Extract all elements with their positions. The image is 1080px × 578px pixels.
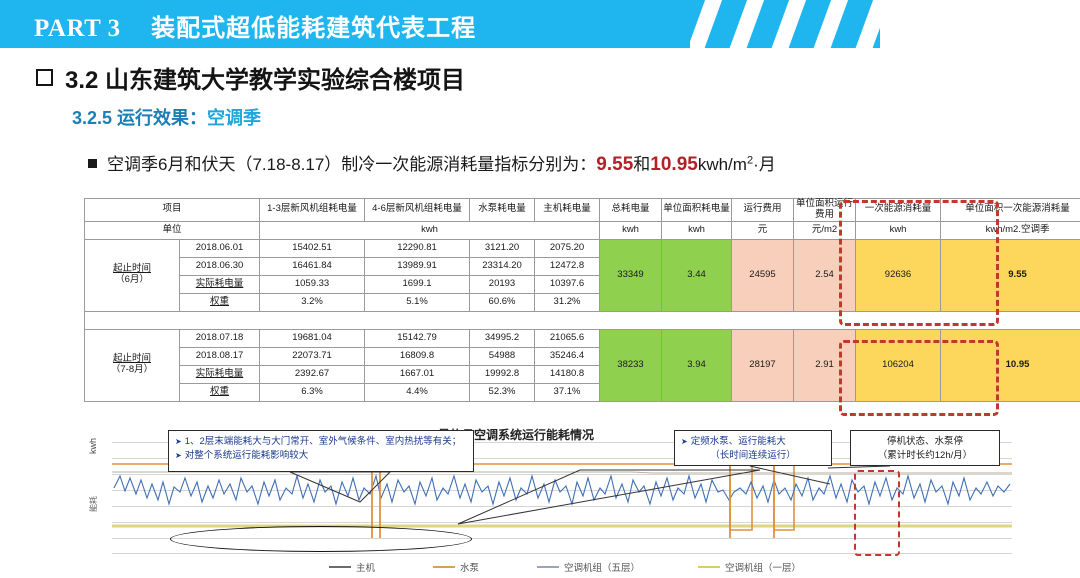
td-block2-label: 起止时间 （7-8月） xyxy=(85,329,180,401)
td-unit-kwh-span: kwh xyxy=(260,221,600,239)
td-b2r3-v4: 14180.8 xyxy=(535,365,600,383)
td-b1r1-v4: 2075.20 xyxy=(535,239,600,257)
block1-label-line2: （6月） xyxy=(115,274,149,285)
legend-swatch-pump xyxy=(433,566,455,569)
td-unit-run-cost: 元 xyxy=(732,221,794,239)
legend-swatch-chiller xyxy=(329,566,351,569)
bullet-text-before: 空调季6月和伏天（7.18-8.17）制冷一次能源消耗量指标分别为： xyxy=(107,155,596,174)
th-fresh-air-4-6: 4-6层新风机组耗电量 xyxy=(365,199,470,222)
callout-1-text-1: 1、2层末端能耗大与大门常开、室外气候条件、室内热扰等有关； xyxy=(185,436,462,447)
td-b1r4-v4: 31.2% xyxy=(535,293,600,311)
td-b2r1-v4: 21065.6 xyxy=(535,329,600,347)
td-b2r3-v1: 2392.67 xyxy=(260,365,365,383)
th-per-area-cost: 单位面积运行费用 xyxy=(794,199,856,222)
td-b2r2-v2: 16809.8 xyxy=(365,347,470,365)
subsection-heading: 3.2.5 运行效果：空调季 xyxy=(72,104,261,130)
block1-label-line1: 起止时间 xyxy=(113,263,151,274)
section-heading: 3.2 山东建筑大学教学实验综合楼项目 xyxy=(36,60,465,95)
td-b2r2-name: 2018.08.17 xyxy=(180,347,260,365)
th-item: 项目 xyxy=(85,199,260,222)
callout-1-line-2: ➤对整个系统运行能耗影响较大 xyxy=(175,449,467,463)
td-b1r1-name: 2018.06.01 xyxy=(180,239,260,257)
metric-unit: kwh/m xyxy=(698,155,747,174)
td-b1r1-v3: 3121.20 xyxy=(470,239,535,257)
callout-2-line-2: （长时间连续运行） xyxy=(681,449,825,463)
banner-diagonal-stripes xyxy=(690,0,890,48)
td-b1r3-v4: 10397.6 xyxy=(535,275,600,293)
table-block-spacer xyxy=(85,311,1080,329)
spacer-cell xyxy=(85,311,1080,329)
td-b1r3-v1: 1059.33 xyxy=(260,275,365,293)
key-metric-bullet: 空调季6月和伏天（7.18-8.17）制冷一次能源消耗量指标分别为：9.55和1… xyxy=(88,150,776,176)
td-block2-run-cost: 28197 xyxy=(732,329,794,401)
td-b2r3-v3: 19992.8 xyxy=(470,365,535,383)
td-b1r1-v2: 12290.81 xyxy=(365,239,470,257)
td-b1r2-v4: 12472.8 xyxy=(535,257,600,275)
subsection-number: 3.2.5 运行效果： xyxy=(72,108,207,128)
legend-item-pump: 水泵 xyxy=(433,560,479,574)
td-b2r2-v1: 22073.71 xyxy=(260,347,365,365)
energy-chart: 最热月空调系统运行能耗情况 kwh 能耗 xyxy=(60,424,1070,578)
td-block1-total-kwh: 33349 xyxy=(600,239,662,311)
legend-item-chiller: 主机 xyxy=(329,560,375,574)
block2-label-line2: （7-8月） xyxy=(111,364,153,375)
td-block1-primary-energy: 92636 xyxy=(856,239,941,311)
legend-swatch-ahu-1f xyxy=(698,566,720,569)
metric-value-june: 9.55 xyxy=(596,154,633,175)
table-row: 起止时间 （7-8月） 2018.07.18 19681.04 15142.79… xyxy=(85,329,1080,347)
section-heading-text: 3.2 山东建筑大学教学实验综合楼项目 xyxy=(65,67,465,94)
legend-item-ahu-5f: 空调机组（五层） xyxy=(537,560,640,574)
td-b2r4-v3: 52.3% xyxy=(470,383,535,401)
table-header-row: 项目 1-3层新风机组耗电量 4-6层新风机组耗电量 水泵耗电量 主机耗电量 总… xyxy=(85,199,1080,222)
banner-title: PART 3 装配式超低能耗建筑代表工程 xyxy=(34,8,476,43)
subsection-topic: 空调季 xyxy=(207,108,261,128)
td-unit-per-area-primary: kwh/m2.空调季 xyxy=(941,221,1080,239)
td-b1r4-name: 权重 xyxy=(180,293,260,311)
legend-label-ahu-5f: 空调机组（五层） xyxy=(564,560,640,574)
td-block2-per-area-kwh: 3.94 xyxy=(662,329,732,401)
legend-label-chiller: 主机 xyxy=(356,560,375,574)
td-block2-primary-energy: 106204 xyxy=(856,329,941,401)
td-block2-per-area-primary: 10.95 xyxy=(941,329,1080,401)
td-b2r2-v3: 54988 xyxy=(470,347,535,365)
th-primary-energy: 一次能源消耗量 xyxy=(856,199,941,222)
td-b1r2-v2: 13989.91 xyxy=(365,257,470,275)
metric-unit-suffix: ·月 xyxy=(753,155,776,174)
legend-item-ahu-1f: 空调机组（一层） xyxy=(698,560,801,574)
banner-part-label: PART 3 xyxy=(34,15,121,42)
callout-1-text-2: 对整个系统运行能耗影响较大 xyxy=(185,450,309,461)
td-unit-label: 单位 xyxy=(85,221,260,239)
td-block1-per-area-kwh: 3.44 xyxy=(662,239,732,311)
filled-square-bullet-icon xyxy=(88,159,97,168)
block2-label-line1: 起止时间 xyxy=(113,353,151,364)
th-total-kwh: 总耗电量 xyxy=(600,199,662,222)
callout-3-line-2: （累计时长约12h/月） xyxy=(857,449,993,463)
table-unit-row: 单位 kwh kwh kwh 元 元/m2 kwh kwh/m2.空调季 xyxy=(85,221,1080,239)
table-row: 起止时间 （6月） 2018.06.01 15402.51 12290.81 3… xyxy=(85,239,1080,257)
callout-3-line-1: 停机状态、水泵停 xyxy=(857,435,993,449)
bullet-joiner: 和 xyxy=(633,155,650,174)
callout-end-unit-energy: ➤1、2层末端能耗大与大门常开、室外气候条件、室内热扰等有关； ➤对整个系统运行… xyxy=(168,430,474,472)
td-unit-total-kwh: kwh xyxy=(600,221,662,239)
legend-label-pump: 水泵 xyxy=(460,560,479,574)
arrow-bullet-icon: ➤ xyxy=(175,437,182,446)
callout-2-line-1: ➤定频水泵、运行能耗大 xyxy=(681,435,825,449)
chart-highlight-dashed-box xyxy=(854,470,900,556)
td-b2r3-v2: 1667.01 xyxy=(365,365,470,383)
chart-legend: 主机 水泵 空调机组（五层） 空调机组（一层） xyxy=(60,558,1070,576)
arrow-bullet-icon: ➤ xyxy=(681,437,688,446)
chart-highlight-ellipse xyxy=(170,526,472,552)
th-run-cost: 运行费用 xyxy=(732,199,794,222)
legend-label-ahu-1f: 空调机组（一层） xyxy=(725,560,801,574)
td-b1r1-v1: 15402.51 xyxy=(260,239,365,257)
square-bullet-icon xyxy=(36,69,53,86)
legend-swatch-ahu-5f xyxy=(537,566,559,569)
td-b2r1-v3: 34995.2 xyxy=(470,329,535,347)
chart-y-axis-label: kwh xyxy=(88,438,98,454)
td-b1r3-name: 实际耗电量 xyxy=(180,275,260,293)
callout-1-line-1: ➤1、2层末端能耗大与大门常开、室外气候条件、室内热扰等有关； xyxy=(175,435,467,449)
td-b2r4-name: 权重 xyxy=(180,383,260,401)
callout-pump-continuous: ➤定频水泵、运行能耗大 （长时间连续运行） xyxy=(674,430,832,466)
td-unit-per-area-kwh: kwh xyxy=(662,221,732,239)
td-b2r4-v2: 4.4% xyxy=(365,383,470,401)
th-fresh-air-1-3: 1-3层新风机组耗电量 xyxy=(260,199,365,222)
energy-consumption-table-wrap: 项目 1-3层新风机组耗电量 4-6层新风机组耗电量 水泵耗电量 主机耗电量 总… xyxy=(84,198,994,402)
td-b1r4-v2: 5.1% xyxy=(365,293,470,311)
td-unit-per-area-cost: 元/m2 xyxy=(794,221,856,239)
td-block1-per-area-primary: 9.55 xyxy=(941,239,1080,311)
title-banner: PART 3 装配式超低能耗建筑代表工程 xyxy=(0,0,1080,48)
td-b2r1-v1: 19681.04 xyxy=(260,329,365,347)
td-b1r2-v1: 16461.84 xyxy=(260,257,365,275)
th-pump: 水泵耗电量 xyxy=(470,199,535,222)
metric-value-julaug: 10.95 xyxy=(650,154,698,175)
th-per-area-primary-energy: 单位面积一次能源消耗量 xyxy=(941,199,1080,222)
td-b2r4-v4: 37.1% xyxy=(535,383,600,401)
td-block1-per-area-cost: 2.54 xyxy=(794,239,856,311)
td-b2r1-v2: 15142.79 xyxy=(365,329,470,347)
td-b1r3-v2: 1699.1 xyxy=(365,275,470,293)
chart-y-axis-sublabel: 能耗 xyxy=(88,496,99,512)
energy-consumption-table: 项目 1-3层新风机组耗电量 4-6层新风机组耗电量 水泵耗电量 主机耗电量 总… xyxy=(84,198,1080,402)
banner-title-text: 装配式超低能耗建筑代表工程 xyxy=(151,15,476,42)
td-b1r4-v3: 60.6% xyxy=(470,293,535,311)
td-block1-run-cost: 24595 xyxy=(732,239,794,311)
td-unit-primary-energy: kwh xyxy=(856,221,941,239)
td-b2r1-name: 2018.07.18 xyxy=(180,329,260,347)
td-b2r2-v4: 35246.4 xyxy=(535,347,600,365)
td-b1r2-v3: 23314.20 xyxy=(470,257,535,275)
td-b2r4-v1: 6.3% xyxy=(260,383,365,401)
th-chiller: 主机耗电量 xyxy=(535,199,600,222)
td-block1-label: 起止时间 （6月） xyxy=(85,239,180,311)
td-block2-per-area-cost: 2.91 xyxy=(794,329,856,401)
callout-shutdown-state: 停机状态、水泵停 （累计时长约12h/月） xyxy=(850,430,1000,466)
td-b1r3-v3: 20193 xyxy=(470,275,535,293)
th-per-area-kwh: 单位面积耗电量 xyxy=(662,199,732,222)
td-block2-total-kwh: 38233 xyxy=(600,329,662,401)
td-b1r2-name: 2018.06.30 xyxy=(180,257,260,275)
td-b1r4-v1: 3.2% xyxy=(260,293,365,311)
td-b2r3-name: 实际耗电量 xyxy=(180,365,260,383)
arrow-bullet-icon: ➤ xyxy=(175,451,182,460)
callout-2-text-1: 定频水泵、运行能耗大 xyxy=(691,436,786,447)
